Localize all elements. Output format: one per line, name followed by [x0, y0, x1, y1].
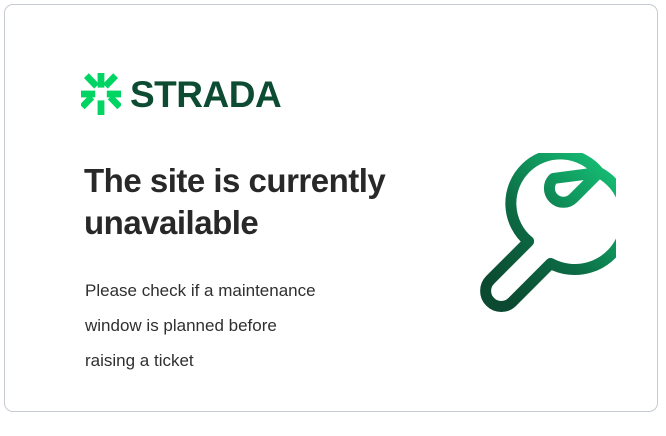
- status-card: STRADA The site is currently unavailable…: [4, 4, 658, 412]
- strada-logo: STRADA: [81, 73, 281, 115]
- strada-wordmark: STRADA: [130, 76, 281, 113]
- wrench-icon: [460, 153, 616, 317]
- page-title: The site is currently unavailable: [84, 160, 414, 243]
- status-description-line: window is planned before: [85, 309, 385, 344]
- strada-asterisk-icon: [81, 73, 121, 115]
- status-description-line: Please check if a maintenance: [85, 274, 385, 309]
- status-description-line: raising a ticket: [85, 344, 385, 379]
- page-background: STRADA The site is currently unavailable…: [0, 0, 666, 436]
- status-description: Please check if a maintenance window is …: [85, 274, 385, 379]
